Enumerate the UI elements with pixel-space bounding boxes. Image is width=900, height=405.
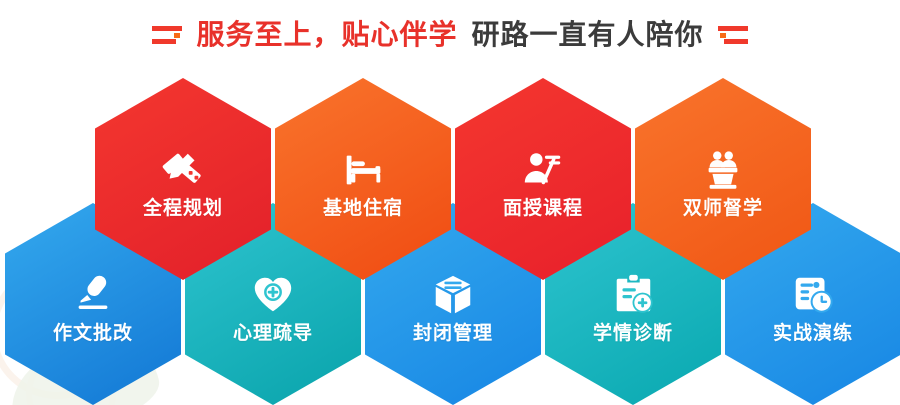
hex-label: 实战演练: [773, 324, 853, 343]
headline-rest: 研路一直有人陪你: [472, 21, 704, 49]
headline-highlight: 服务至上，贴心伴学: [196, 21, 457, 49]
pen-edit-icon: [70, 272, 116, 318]
heart-plus-icon: [250, 272, 296, 318]
deco-dash-left-icon: [148, 22, 182, 48]
hex-label: 作文批改: [53, 324, 133, 343]
hex-label: 全程规划: [143, 199, 223, 218]
hexagon-grid: 作文批改 心理疏导 封闭管理 学情诊断: [0, 0, 900, 405]
teacher-board-icon: [520, 147, 566, 193]
hex-label: 学情诊断: [593, 324, 673, 343]
hex-label: 封闭管理: [413, 324, 493, 343]
clipboard-plus-icon: [610, 272, 656, 318]
report-clock-icon: [790, 272, 836, 318]
podium-people-icon: [700, 147, 746, 193]
bed-icon: [340, 147, 386, 193]
hex-label: 心理疏导: [233, 324, 313, 343]
hex-label: 双师督学: [683, 199, 763, 218]
hex-label: 基地住宿: [323, 199, 403, 218]
pencil-ruler-icon: [160, 147, 206, 193]
deco-dash-right-icon: [718, 22, 752, 48]
hex-label: 面授课程: [503, 199, 583, 218]
promo-banner: 服务至上，贴心伴学 研路一直有人陪你 作文批改 心理疏导 封闭管理: [0, 0, 900, 405]
box-cube-icon: [430, 272, 476, 318]
headline: 服务至上，贴心伴学 研路一直有人陪你: [0, 12, 900, 58]
